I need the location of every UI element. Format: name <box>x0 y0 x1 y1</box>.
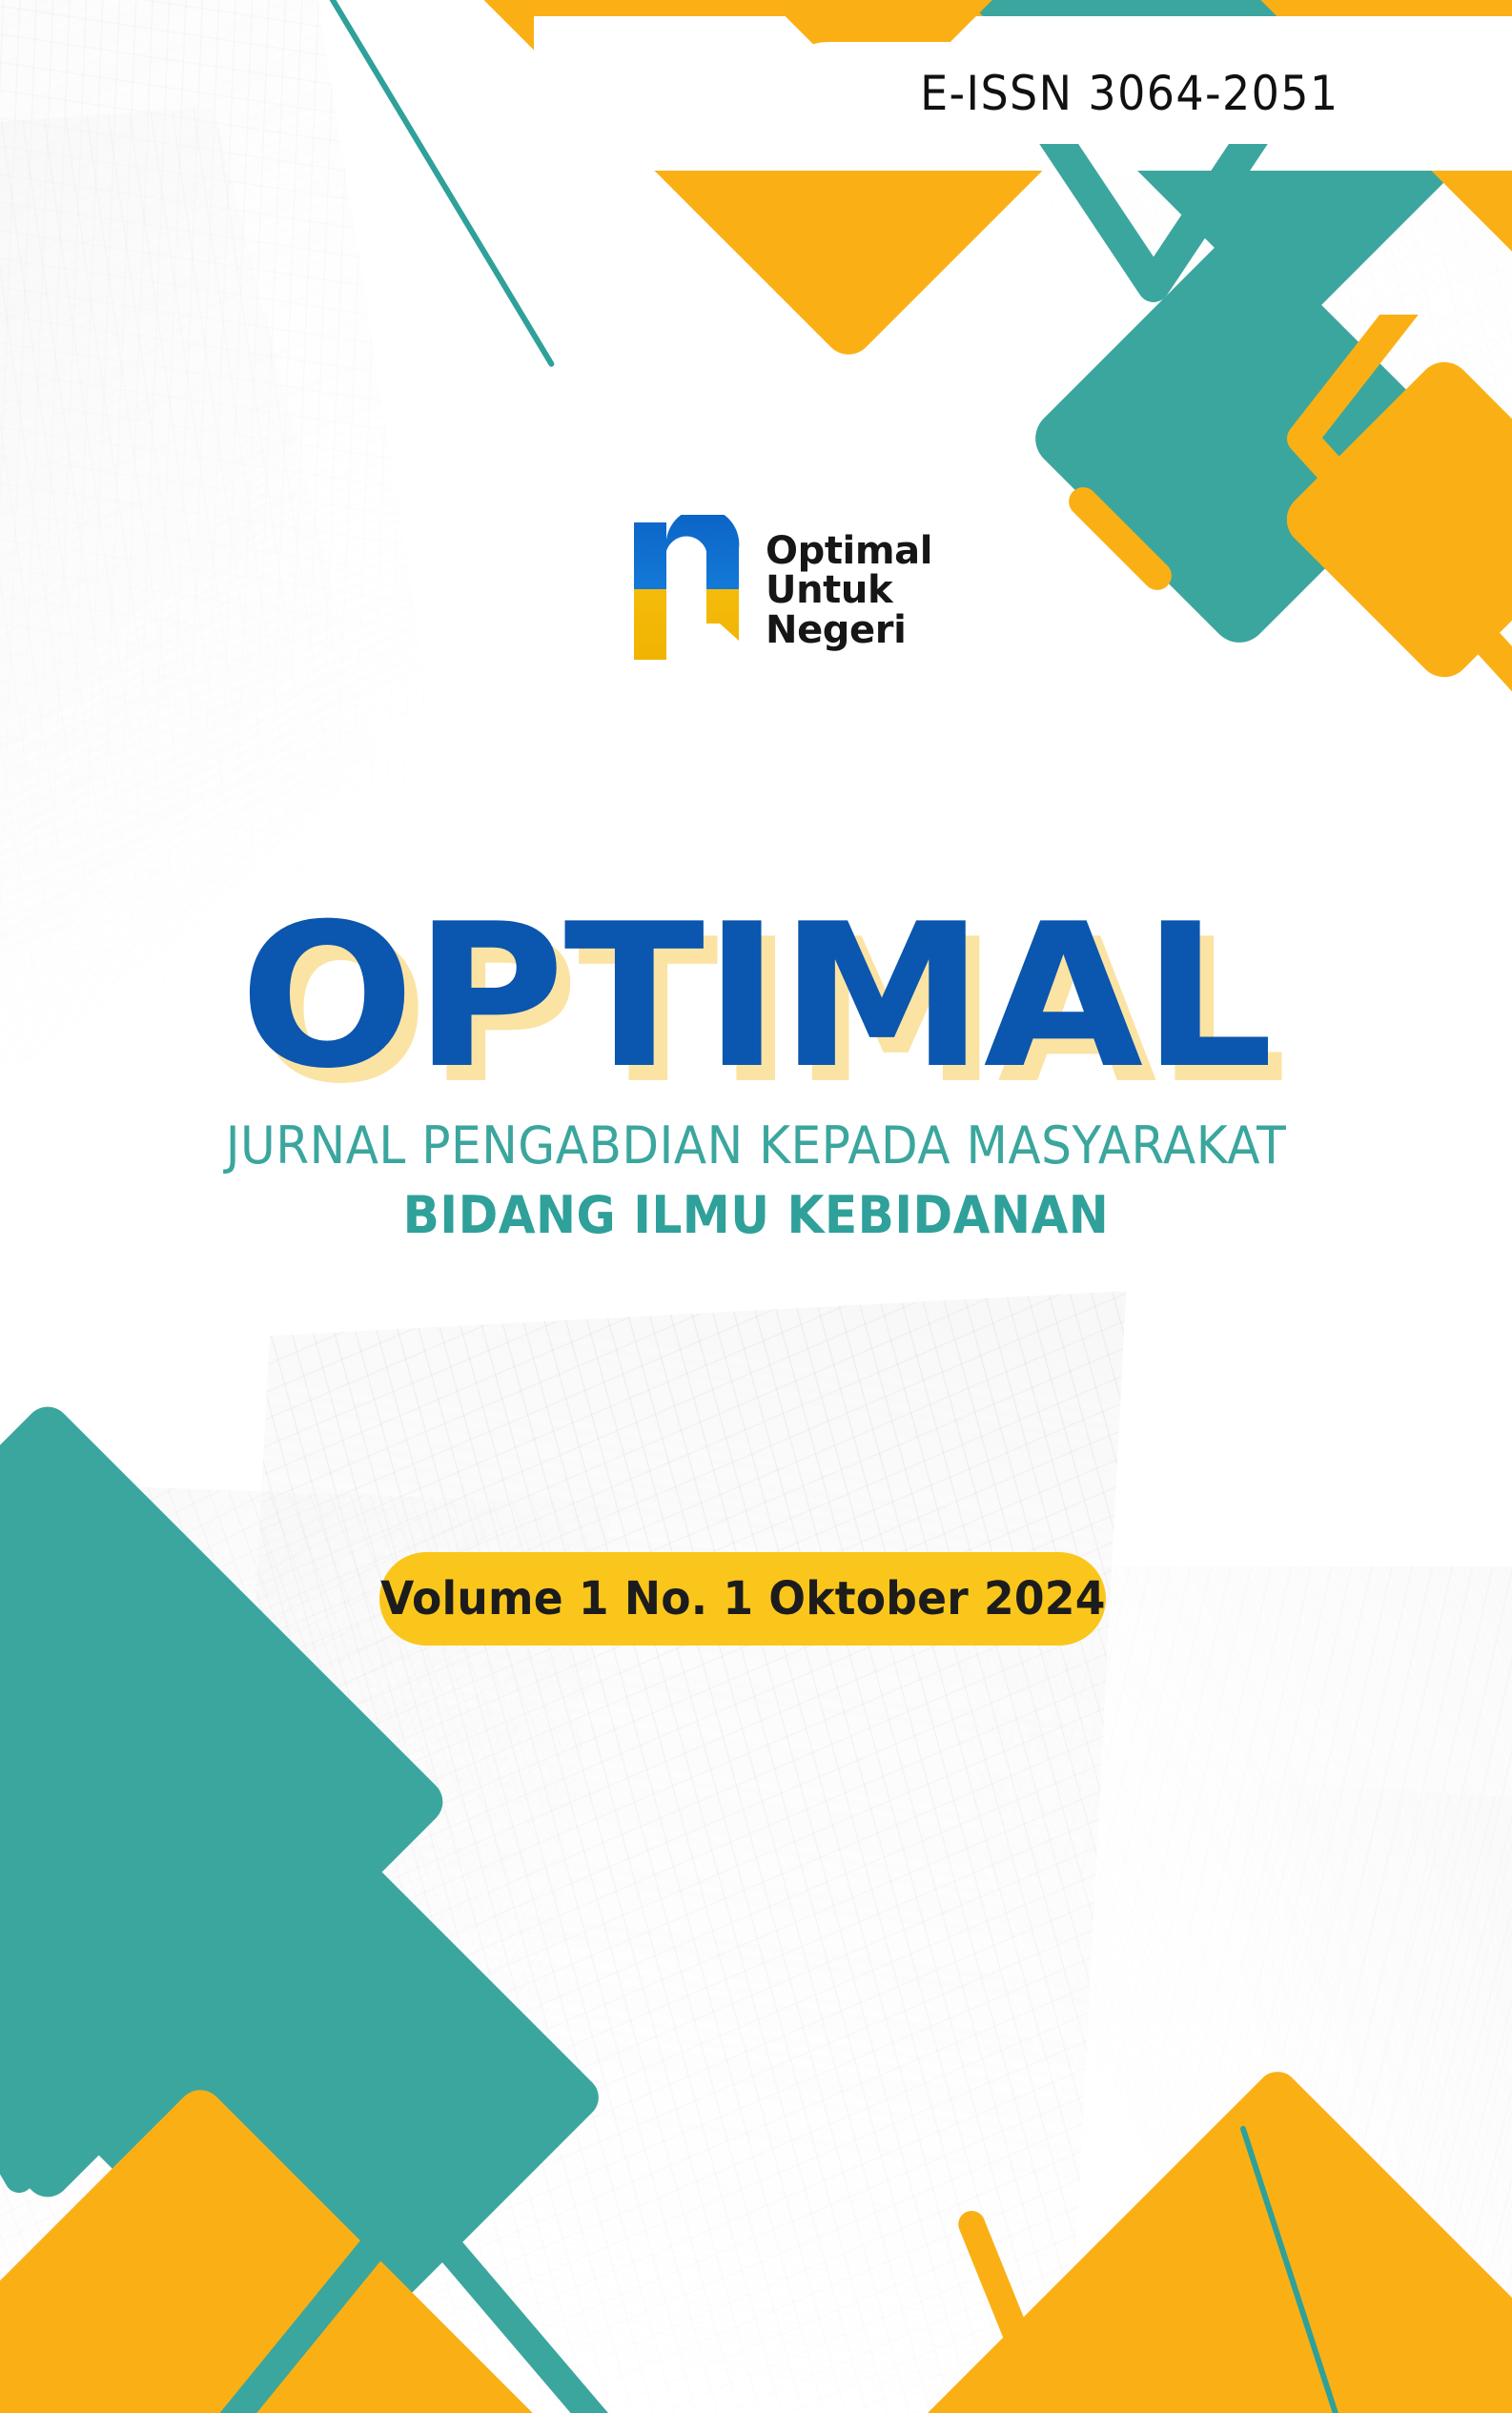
logo-line-3: Negeri <box>766 611 932 650</box>
skyscraper-texture-bottom-right <box>948 1566 1512 2413</box>
yellow-diamond-right-edge <box>1276 351 1512 688</box>
teal-chevron-bottom-center <box>95 2145 782 2413</box>
teal-diamond-bottom-center-left <box>41 1814 607 2381</box>
journal-title: OPTIMAL <box>0 904 1512 1093</box>
logo-line-1: Optimal <box>766 532 932 571</box>
teal-diagonal-line-bottom-right <box>1239 2125 1354 2413</box>
teal-diamond-upper-right <box>1024 223 1456 655</box>
teal-diagonal-line-top-left <box>324 0 555 368</box>
yellow-diamond-bottom-left <box>0 2080 551 2413</box>
optimal-untuk-negeri-monogram-icon <box>632 515 745 667</box>
teal-chevron-upper-right <box>1011 143 1297 429</box>
teal-square-bottom-left-small <box>59 1832 369 2142</box>
teal-diamond-bottom-left <box>0 1398 452 2207</box>
skyscraper-texture-center <box>209 1291 1127 2413</box>
issue-label: Volume 1 No. 1 Oktober 2024 <box>380 1572 1106 1626</box>
issn-badge: E-ISSN 3064-2051 <box>777 42 1482 144</box>
masthead: OPTIMAL JURNAL PENGABDIAN KEPADA MASYARA… <box>0 904 1512 1245</box>
teal-chevron-lower-left <box>0 1993 210 2260</box>
logo-line-2: Untuk <box>766 571 932 610</box>
publisher-logo-wordmark: Optimal Untuk Negeri <box>766 532 932 650</box>
journal-subtitle-line-1: JURNAL PENGABDIAN KEPADA MASYARAKAT <box>53 1115 1460 1176</box>
yellow-stroke-upper-right-short <box>1063 481 1177 596</box>
issue-badge: Volume 1 No. 1 Oktober 2024 <box>379 1552 1106 1646</box>
journal-cover: E-ISSN 3064-2051 <box>0 0 1512 2413</box>
journal-subtitle-line-2: BIDANG ILMU KEBIDANAN <box>53 1185 1460 1245</box>
yellow-diamond-bottom-right <box>900 2063 1512 2413</box>
skyscraper-texture-top-left <box>0 0 472 998</box>
yellow-stroke-bottom-center <box>954 2207 1083 2413</box>
publisher-logo: Optimal Untuk Negeri <box>632 515 932 667</box>
issn-white-band-left-cap <box>534 16 782 171</box>
yellow-chevron-upper-right <box>1268 315 1512 734</box>
issn-label: E-ISSN 3064-2051 <box>920 66 1338 121</box>
skyscraper-texture-right-mid <box>1203 1779 1512 2413</box>
